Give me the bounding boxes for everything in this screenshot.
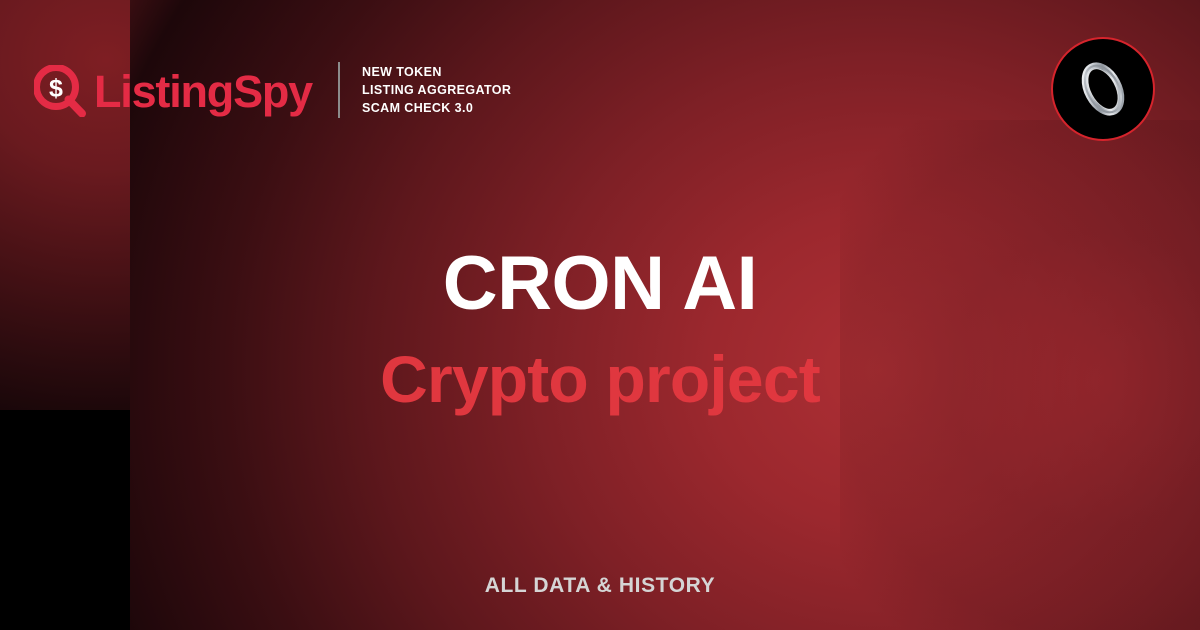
magnifier-dollar-icon: $: [34, 65, 86, 117]
header-divider: [338, 62, 340, 118]
brand-header: $ ListingSpy NEW TOKEN LISTING AGGREGATO…: [34, 56, 511, 124]
footer-block: ALL DATA & HISTORY: [0, 574, 1200, 598]
tagline-line-1: NEW TOKEN: [362, 64, 511, 80]
project-title: CRON AI: [0, 246, 1200, 322]
tagline-line-2: LISTING AGGREGATOR: [362, 82, 511, 98]
footer-caption: ALL DATA & HISTORY: [485, 574, 716, 597]
svg-text:$: $: [49, 75, 63, 103]
chrome-ring-token-icon: [1072, 58, 1134, 120]
headline-block: CRON AI Crypto project: [0, 246, 1200, 412]
token-logo-badge: [1051, 37, 1155, 141]
brand-wordmark: ListingSpy: [94, 69, 312, 114]
brand-tagline: NEW TOKEN LISTING AGGREGATOR SCAM CHECK …: [362, 64, 511, 116]
project-subtitle: Crypto project: [0, 346, 1200, 412]
tagline-line-3: SCAM CHECK 3.0: [362, 100, 511, 116]
banner-canvas: $ ListingSpy NEW TOKEN LISTING AGGREGATO…: [0, 0, 1200, 630]
